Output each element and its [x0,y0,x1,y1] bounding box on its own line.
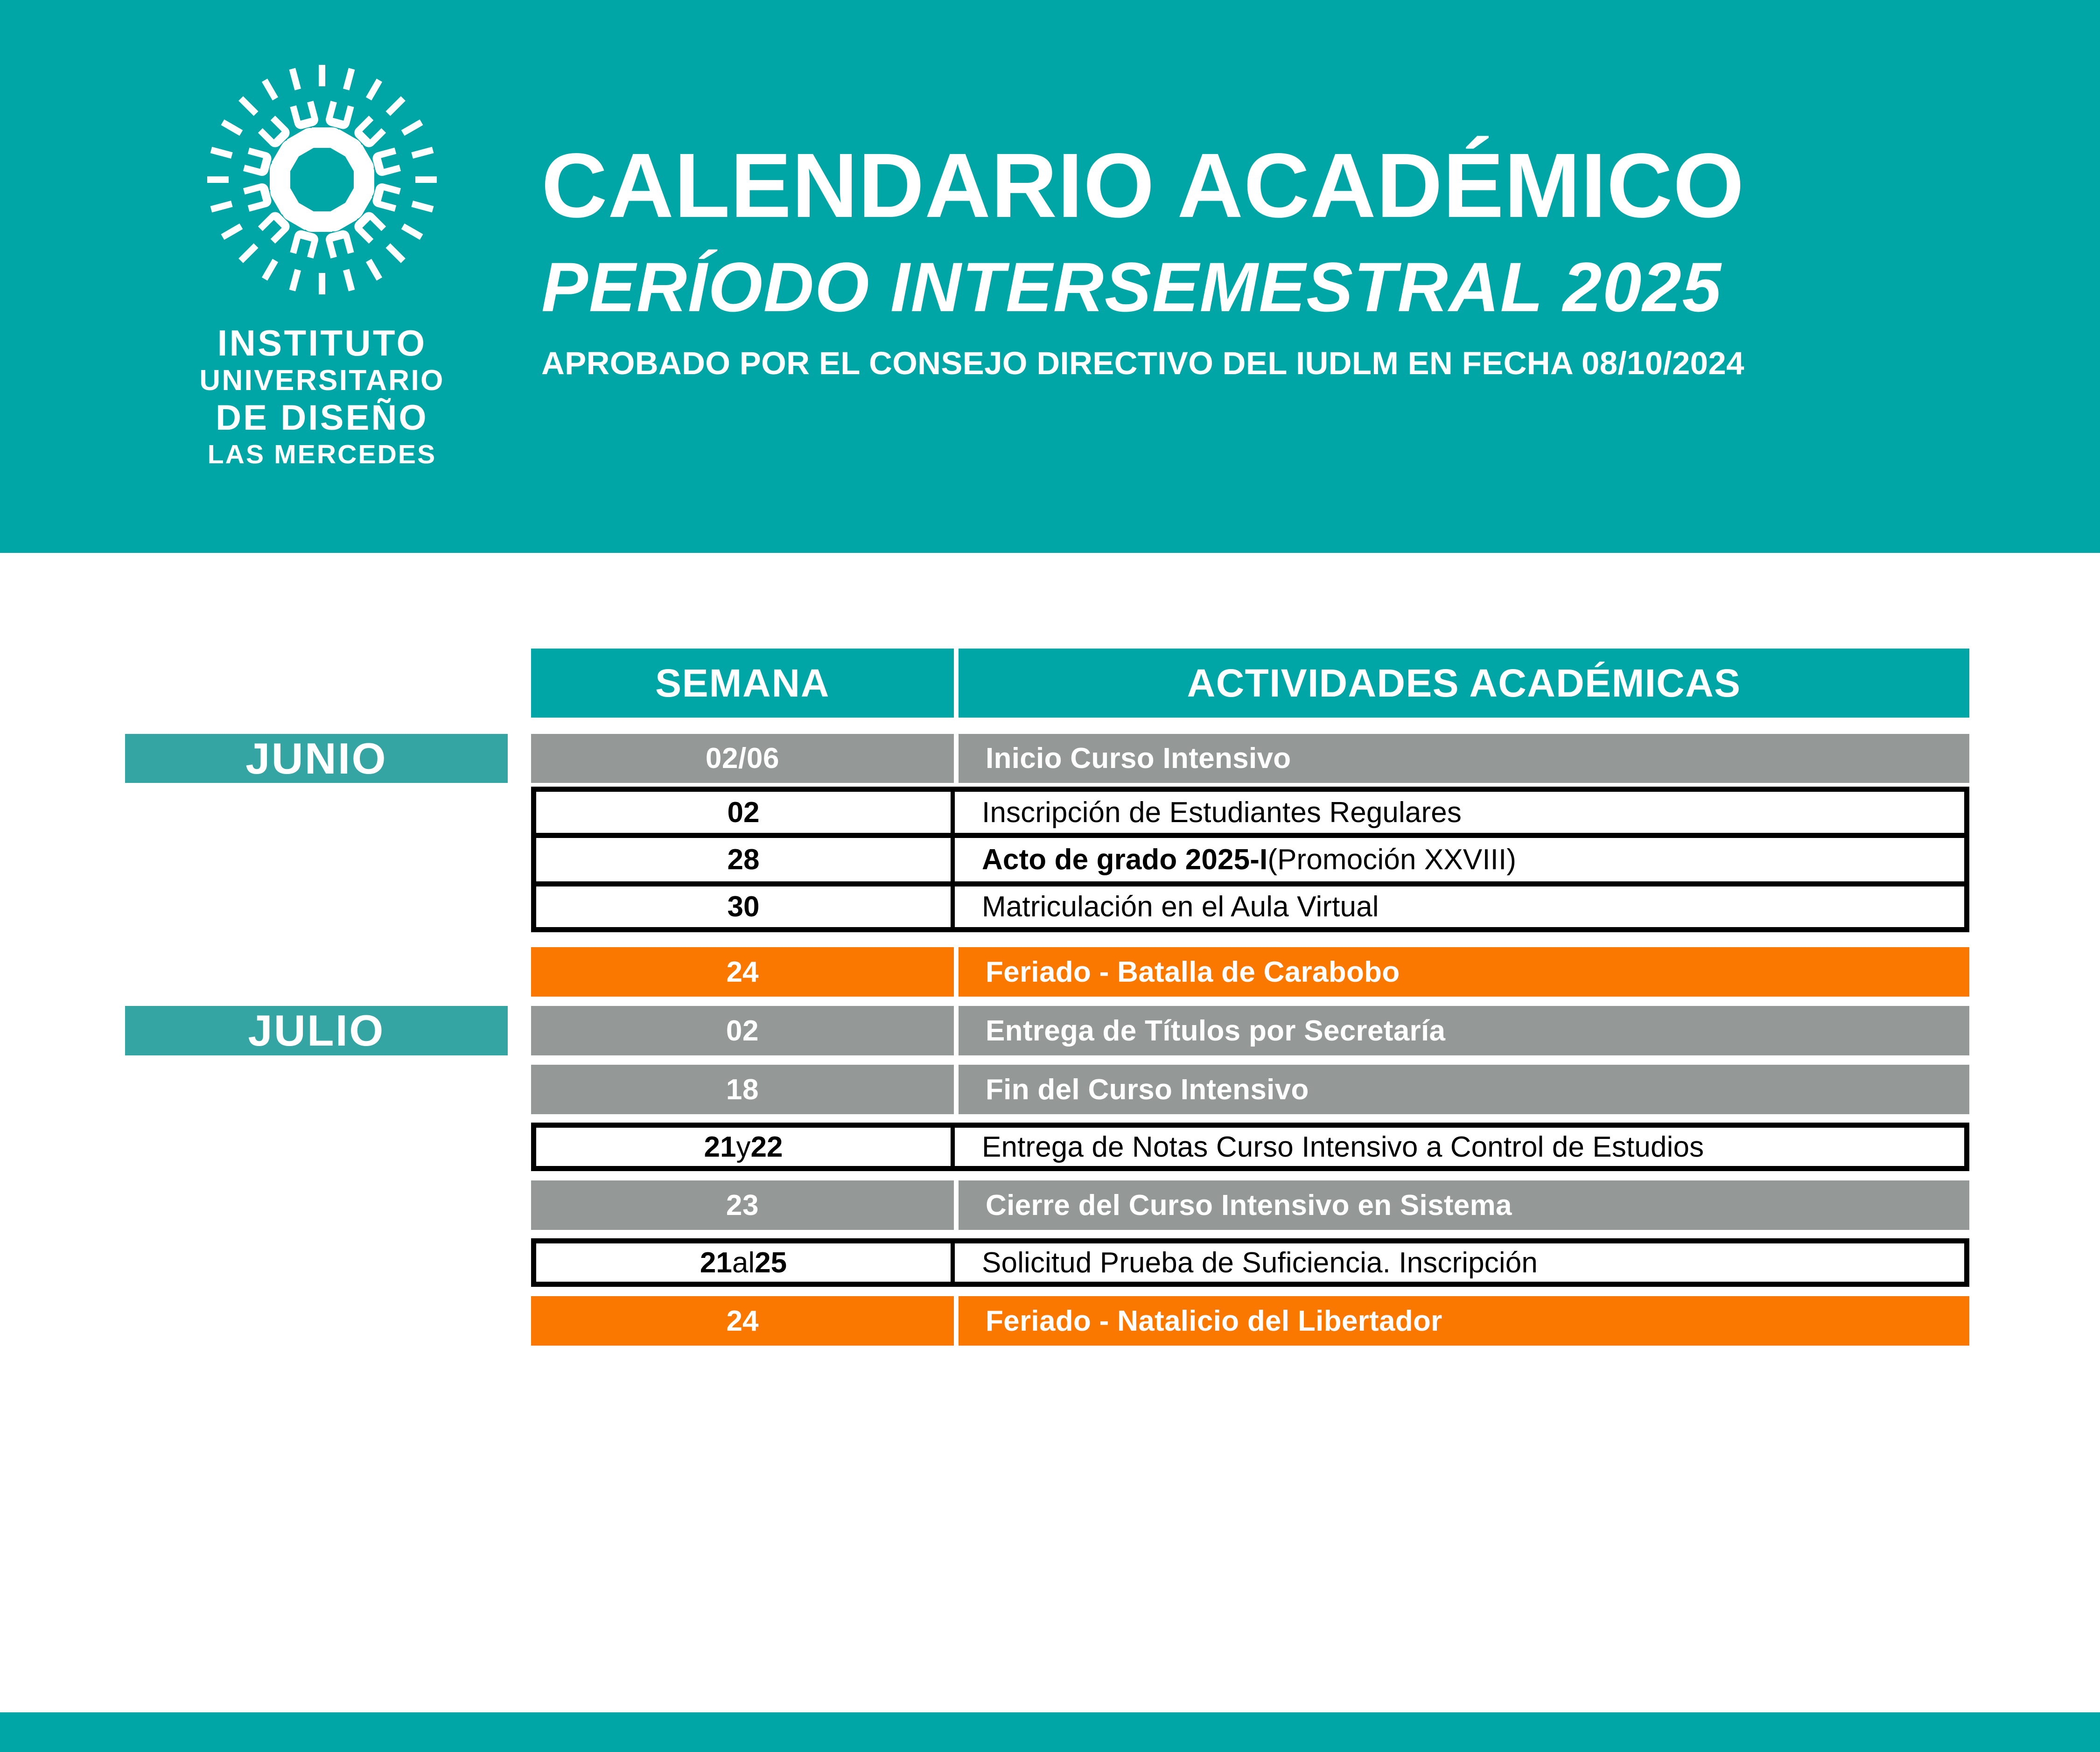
week-joiner: y [736,1131,751,1164]
month-badge-junio: JUNIO [125,734,508,783]
header-text-block: CALENDARIO ACADÉMICO PERÍODO INTERSEMEST… [541,140,2035,379]
table-row: 18 Fin del Curso Intensivo [0,1065,2100,1114]
table-row: 02 Inscripción de Estudiantes Regulares [0,787,2100,835]
table-row: 21 al 25 Solicitud Prueba de Suficiencia… [0,1238,2100,1287]
week-start: 21 [704,1131,736,1164]
table-row: 30 Matriculación en el Aula Virtual [0,884,2100,932]
calendar-table: SEMANA ACTIVIDADES ACADÉMICAS JUNIO 02/0… [0,553,2100,1712]
week-start: 21 [700,1246,732,1279]
activity-cell: Solicitud Prueba de Suficiencia. Inscrip… [955,1243,1964,1282]
table-row-holiday: 24 Feriado - Natalicio del Libertador [0,1296,2100,1346]
week-cell: 02/06 [531,734,954,783]
week-cell: 24 [531,1296,954,1346]
logo-line-instituto: INSTITUTO [177,322,467,364]
column-header-semana: SEMANA [531,649,954,718]
week-joiner: al [732,1246,755,1279]
approval-note: APROBADO POR EL CONSEJO DIRECTIVO DEL IU… [541,347,2035,379]
table-row: 28 Acto de grado 2025-I (Promoción XXVII… [0,835,2100,884]
week-cell: 02 [536,792,955,833]
week-end: 25 [755,1246,787,1279]
week-cell: 30 [536,886,955,927]
footer-bar [0,1712,2100,1752]
academic-calendar-page: INSTITUTO UNIVERSITARIO DE DISEÑO LAS ME… [0,0,2100,1752]
activity-cell: Matriculación en el Aula Virtual [955,886,1964,927]
table-header-row: SEMANA ACTIVIDADES ACADÉMICAS [0,649,2100,718]
month-badge-julio: JULIO [125,1006,508,1055]
logo-line-las-mercedes: LAS MERCEDES [177,439,467,470]
page-title: CALENDARIO ACADÉMICO [541,140,2035,231]
table-row: 21 y 22 Entrega de Notas Curso Intensivo… [0,1123,2100,1171]
activity-cell: Inscripción de Estudiantes Regulares [955,792,1964,833]
activity-bold-part: Acto de grado 2025-I [982,843,1267,876]
week-cell: 24 [531,947,954,997]
activity-cell: Acto de grado 2025-I (Promoción XXVIII) [955,838,1964,881]
activity-cell: Inicio Curso Intensivo [959,734,1969,783]
activity-regular-part: (Promoción XXVIII) [1267,843,1516,876]
activity-cell: Entrega de Notas Curso Intensivo a Contr… [955,1128,1964,1166]
logo-line-universitario: UNIVERSITARIO [177,364,467,398]
activity-cell: Entrega de Títulos por Secretaría [959,1006,1969,1055]
week-cell: 21 al 25 [536,1243,955,1282]
iudlm-sunburst-logo-icon [198,56,446,303]
institution-logo: INSTITUTO UNIVERSITARIO DE DISEÑO LAS ME… [177,56,467,499]
week-cell: 23 [531,1180,954,1230]
week-cell: 21 y 22 [536,1128,955,1166]
activity-cell: Fin del Curso Intensivo [959,1065,1969,1114]
week-cell: 18 [531,1065,954,1114]
table-row-holiday: 24 Feriado - Batalla de Carabobo [0,947,2100,997]
week-cell: 28 [536,838,955,881]
page-subtitle: PERÍODO INTERSEMESTRAL 2025 [541,252,2035,322]
week-end: 22 [751,1131,783,1164]
activity-cell: Feriado - Batalla de Carabobo [959,947,1969,997]
table-row: JUNIO 02/06 Inicio Curso Intensivo [0,734,2100,783]
logo-line-de-diseno: DE DISEÑO [177,398,467,439]
activity-cell: Feriado - Natalicio del Libertador [959,1296,1969,1346]
column-header-actividades: ACTIVIDADES ACADÉMICAS [959,649,1969,718]
table-row: JULIO 02 Entrega de Títulos por Secretar… [0,1006,2100,1055]
week-cell: 02 [531,1006,954,1055]
activity-cell: Cierre del Curso Intensivo en Sistema [959,1180,1969,1230]
table-row: 23 Cierre del Curso Intensivo en Sistema [0,1180,2100,1230]
header-banner: INSTITUTO UNIVERSITARIO DE DISEÑO LAS ME… [0,0,2100,553]
